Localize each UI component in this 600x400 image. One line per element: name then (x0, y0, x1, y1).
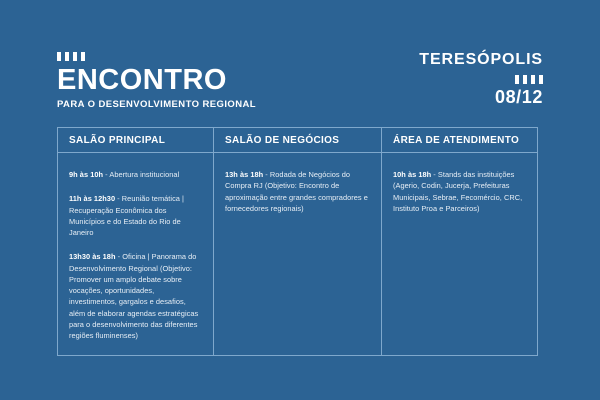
dash-mark-icon (65, 52, 69, 61)
dash-mark-icon (73, 52, 77, 61)
decorative-dashes-left (57, 52, 256, 61)
entry-time: 11h às 12h30 (69, 194, 115, 203)
dash-mark-icon (531, 75, 535, 84)
schedule-entry: 13h às 18h - Rodada de Negócios do Compr… (225, 169, 371, 214)
dash-mark-icon (539, 75, 543, 84)
event-city: TERESÓPOLIS (419, 52, 543, 68)
column-header-label: ÁREA DE ATENDIMENTO (393, 135, 519, 146)
dash-mark-icon (81, 52, 85, 61)
schedule-column-salao-de-negocios: SALÃO DE NEGÓCIOS 13h às 18h - Rodada de… (214, 128, 382, 355)
schedule-entry: 11h às 12h30 - Reunião temática | Recupe… (69, 193, 203, 238)
header-left-block: ENCONTRO PARA O DESENVOLVIMENTO REGIONAL (57, 52, 256, 110)
event-date: 08/12 (419, 88, 543, 106)
entry-time: 13h às 18h (225, 170, 263, 179)
schedule-column-area-de-atendimento: ÁREA DE ATENDIMENTO 10h às 18h - Stands … (382, 128, 537, 355)
column-body-salao-principal: 9h às 10h - Abertura institucional 11h à… (58, 153, 213, 355)
event-subtitle: PARA O DESENVOLVIMENTO REGIONAL (57, 99, 256, 110)
dash-mark-icon (523, 75, 527, 84)
column-header-label: SALÃO DE NEGÓCIOS (225, 135, 339, 146)
entry-separator: - (263, 170, 270, 179)
entry-text: Abertura institucional (109, 170, 179, 179)
entry-separator: - (431, 170, 438, 179)
column-header-salao-principal: SALÃO PRINCIPAL (58, 128, 213, 153)
entry-text: Oficina | Panorama do Desenvolvimento Re… (69, 252, 198, 340)
column-header-area-de-atendimento: ÁREA DE ATENDIMENTO (382, 128, 537, 153)
header-right-block: TERESÓPOLIS 08/12 (419, 52, 543, 106)
schedule-column-salao-principal: SALÃO PRINCIPAL 9h às 10h - Abertura ins… (58, 128, 214, 355)
event-poster: ENCONTRO PARA O DESENVOLVIMENTO REGIONAL… (0, 0, 600, 400)
entry-time: 10h às 18h (393, 170, 431, 179)
decorative-dashes-right (419, 75, 543, 84)
entry-separator: - (115, 194, 122, 203)
entry-time: 9h às 10h (69, 170, 103, 179)
schedule-entry: 13h30 às 18h - Oficina | Panorama do Des… (69, 251, 203, 341)
schedule-table: SALÃO PRINCIPAL 9h às 10h - Abertura ins… (57, 127, 538, 356)
column-header-salao-de-negocios: SALÃO DE NEGÓCIOS (214, 128, 381, 153)
schedule-entry: 10h às 18h - Stands das instituições (Ag… (393, 169, 527, 214)
column-header-label: SALÃO PRINCIPAL (69, 135, 165, 146)
entry-time: 13h30 às 18h (69, 252, 116, 261)
poster-header: ENCONTRO PARA O DESENVOLVIMENTO REGIONAL… (57, 52, 543, 118)
dash-mark-icon (515, 75, 519, 84)
event-title: ENCONTRO (57, 66, 256, 96)
column-body-salao-de-negocios: 13h às 18h - Rodada de Negócios do Compr… (214, 153, 381, 355)
column-body-area-de-atendimento: 10h às 18h - Stands das instituições (Ag… (382, 153, 537, 355)
schedule-entry: 9h às 10h - Abertura institucional (69, 169, 203, 180)
dash-mark-icon (57, 52, 61, 61)
